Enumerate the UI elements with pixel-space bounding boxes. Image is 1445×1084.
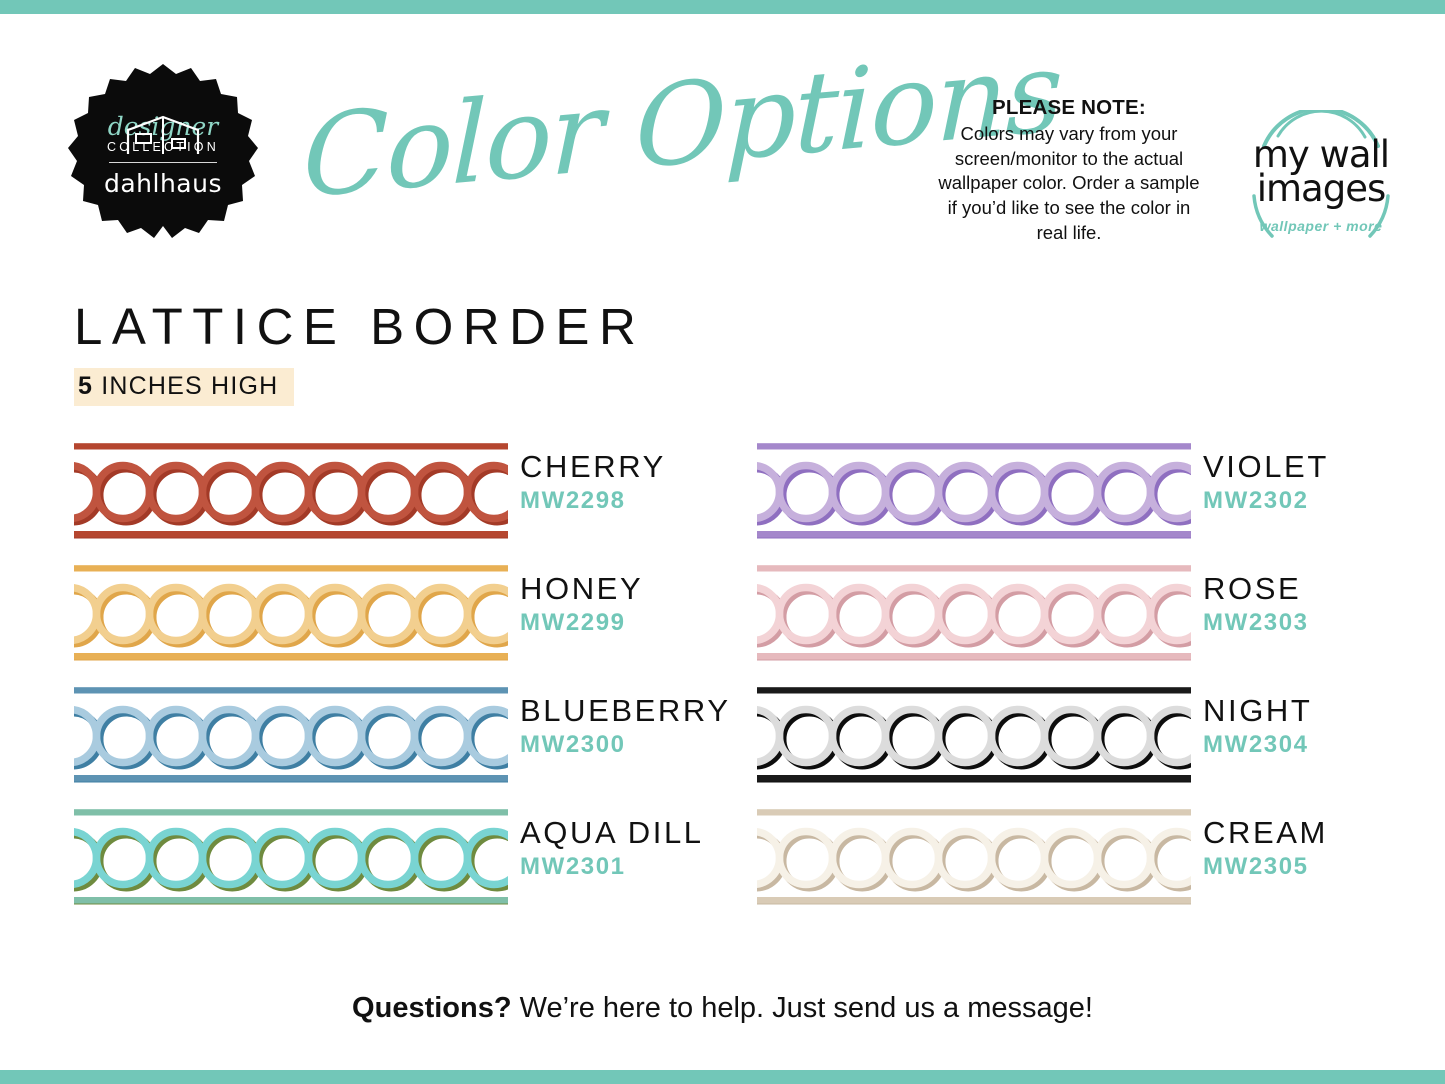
- please-note-block: PLEASE NOTE: Colors may vary from your s…: [938, 94, 1200, 245]
- swatch-mw2299[interactable]: HONEYMW2299: [74, 560, 734, 682]
- swatch-code: MW2301: [520, 853, 704, 881]
- swatch-image: [757, 686, 1191, 786]
- swatch-image: [757, 442, 1191, 542]
- top-accent-bar: [0, 0, 1445, 14]
- please-note-title: PLEASE NOTE:: [938, 94, 1200, 121]
- swatch-mw2298[interactable]: CHERRYMW2298: [74, 438, 734, 560]
- swatch-row: CHERRYMW2298 VIOLETMW2302: [0, 438, 1445, 560]
- my-wall-images-logo: my wall images wallpaper + more: [1232, 110, 1410, 260]
- swatch-meta: AQUA DILLMW2301: [520, 816, 704, 881]
- swatch-mw2305[interactable]: CREAMMW2305: [757, 804, 1445, 926]
- swatch-name: HONEY: [520, 572, 643, 607]
- lattice-pattern: [757, 808, 1191, 908]
- swatch-row: BLUEBERRYMW2300 NIGHTMW2304: [0, 682, 1445, 804]
- swatch-code: MW2304: [1203, 731, 1312, 759]
- swatch-mw2304[interactable]: NIGHTMW2304: [757, 682, 1445, 804]
- swatch-meta: CHERRYMW2298: [520, 450, 666, 515]
- swatch-row: AQUA DILLMW2301 CREAMMW2305: [0, 804, 1445, 926]
- lattice-pattern: [757, 564, 1191, 664]
- designer-collection-badge: designer COLLECTION dahlhaus: [68, 62, 258, 252]
- lattice-pattern: [757, 686, 1191, 786]
- brand-line-1: my wall: [1232, 110, 1410, 172]
- swatch-mw2300[interactable]: BLUEBERRYMW2300: [74, 682, 734, 804]
- swatch-image: [757, 808, 1191, 908]
- product-size-label: INCHES HIGH: [93, 372, 278, 400]
- footer-text: We’re here to help. Just send us a messa…: [512, 992, 1093, 1024]
- lattice-pattern: [757, 442, 1191, 542]
- swatch-code: MW2305: [1203, 853, 1328, 881]
- swatch-image: [74, 442, 508, 542]
- swatch-image: [74, 686, 508, 786]
- swatch-image: [757, 564, 1191, 664]
- bottom-accent-bar: [0, 1070, 1445, 1084]
- swatch-meta: CREAMMW2305: [1203, 816, 1328, 881]
- swatch-name: NIGHT: [1203, 694, 1312, 729]
- footer-question: Questions?: [352, 992, 512, 1024]
- product-size-value: 5: [78, 372, 93, 400]
- swatch-meta: VIOLETMW2302: [1203, 450, 1329, 515]
- swatch-mw2301[interactable]: AQUA DILLMW2301: [74, 804, 734, 926]
- swatch-name: VIOLET: [1203, 450, 1329, 485]
- swatch-mw2302[interactable]: VIOLETMW2302: [757, 438, 1445, 560]
- color-swatch-grid: CHERRYMW2298 VIOLETMW2302 HONEYMW2299: [0, 438, 1445, 926]
- lattice-pattern: [74, 686, 508, 786]
- badge-brand-name: dahlhaus: [104, 171, 222, 196]
- swatch-meta: ROSEMW2303: [1203, 572, 1309, 637]
- swatch-meta: NIGHTMW2304: [1203, 694, 1312, 759]
- swatch-image: [74, 564, 508, 664]
- swatch-code: MW2303: [1203, 609, 1309, 637]
- footer-message: Questions? We’re here to help. Just send…: [0, 992, 1445, 1025]
- swatch-mw2303[interactable]: ROSEMW2303: [757, 560, 1445, 682]
- brand-line-2: images: [1232, 172, 1410, 206]
- swatch-name: BLUEBERRY: [520, 694, 731, 729]
- swatch-name: CREAM: [1203, 816, 1328, 851]
- swatch-code: MW2299: [520, 609, 643, 637]
- lattice-pattern: [74, 442, 508, 542]
- lattice-pattern: [74, 564, 508, 664]
- swatch-code: MW2300: [520, 731, 731, 759]
- swatch-row: HONEYMW2299 ROSEMW2303: [0, 560, 1445, 682]
- swatch-name: CHERRY: [520, 450, 666, 485]
- page-title: LATTICE BORDER: [74, 300, 645, 354]
- swatch-code: MW2298: [520, 487, 666, 515]
- badge-divider: [109, 162, 217, 163]
- swatch-image: [74, 808, 508, 908]
- swatch-code: MW2302: [1203, 487, 1329, 515]
- swatch-meta: HONEYMW2299: [520, 572, 643, 637]
- script-title: Color Options: [295, 76, 935, 256]
- lattice-pattern: [74, 808, 508, 908]
- brand-tagline: wallpaper + more: [1232, 218, 1410, 234]
- please-note-body: Colors may vary from your screen/monitor…: [938, 122, 1200, 245]
- product-title-block: LATTICE BORDER 5 INCHES HIGH: [74, 300, 645, 406]
- swatch-name: ROSE: [1203, 572, 1309, 607]
- product-size-badge: 5 INCHES HIGH: [74, 368, 294, 406]
- page-header: designer COLLECTION dahlhaus Color Optio…: [0, 48, 1445, 278]
- swatch-meta: BLUEBERRYMW2300: [520, 694, 731, 759]
- swatch-name: AQUA DILL: [520, 816, 704, 851]
- house-icon: [120, 114, 206, 156]
